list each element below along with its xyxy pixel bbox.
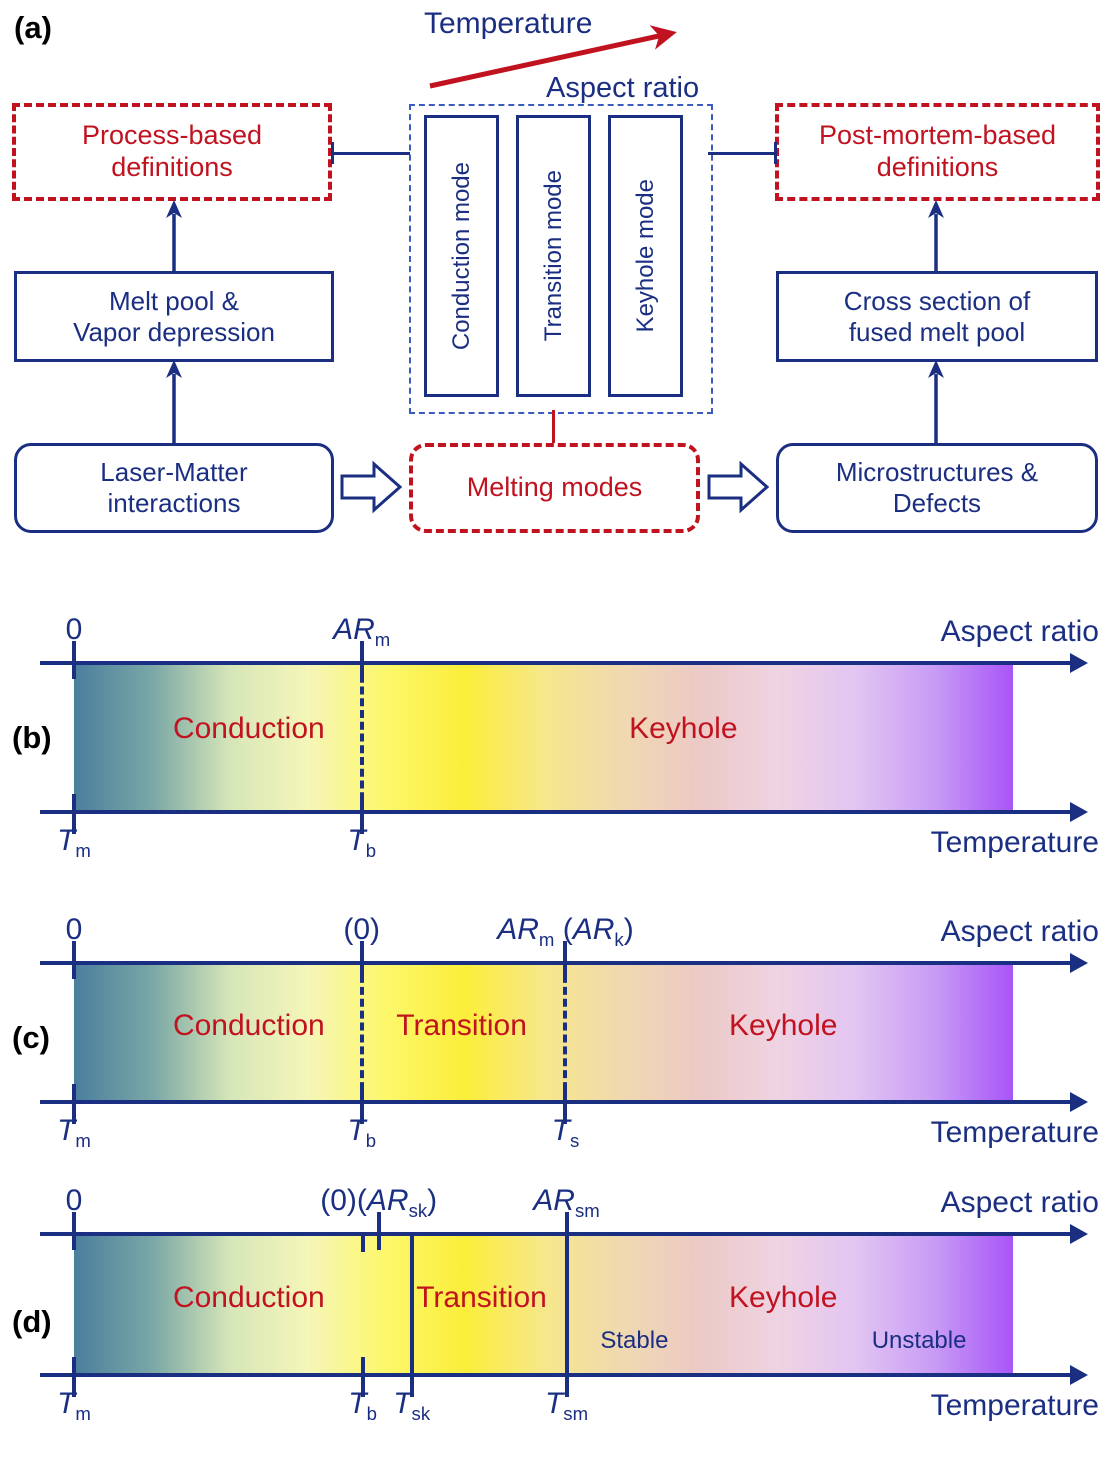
axis-tick	[360, 963, 364, 979]
process-based-definitions-box[interactable]: Process-based definitions	[12, 103, 332, 201]
region-label: Keyhole	[629, 712, 737, 746]
transition-mode-box[interactable]: Transition mode	[516, 115, 591, 397]
cross-section-box[interactable]: Cross section of fused melt pool	[776, 271, 1098, 362]
top-axis-arrowhead	[1070, 953, 1088, 973]
region-label: Transition	[396, 1009, 527, 1043]
post-mortem-line1: Post-mortem-based	[819, 120, 1056, 152]
axis-tick	[360, 1102, 364, 1124]
process-based-line2: definitions	[82, 152, 262, 184]
axis-tick	[565, 1234, 569, 1250]
bottom-axis	[40, 1100, 1070, 1104]
keyhole-mode-label: Keyhole mode	[632, 179, 660, 332]
region-divider	[565, 1234, 569, 1375]
axis-tick	[72, 941, 76, 963]
axis-tick	[72, 963, 76, 979]
axis-tick	[72, 1102, 76, 1124]
region-label: Transition	[416, 1281, 547, 1315]
axis-tick	[377, 1212, 381, 1234]
bottom-axis	[40, 1373, 1070, 1377]
melt-pool-line1: Melt pool &	[73, 286, 275, 317]
top-axis-arrowhead	[1070, 1224, 1088, 1244]
region-label: Conduction	[173, 712, 325, 746]
axis-tick	[72, 663, 76, 679]
panel-a-letter: (a)	[14, 10, 52, 46]
axis-tick	[72, 1084, 76, 1102]
top-axis	[40, 961, 1070, 965]
cross-section-line2: fused melt pool	[844, 317, 1030, 348]
region-divider	[360, 963, 364, 1102]
connector-process-to-modes	[332, 152, 410, 155]
top-axis-name: Aspect ratio	[941, 915, 1099, 949]
axis-tick	[361, 1357, 365, 1375]
arrow-micro-to-crosssection	[922, 358, 952, 448]
axis-tick	[410, 1375, 414, 1397]
axis-tick	[72, 1212, 76, 1234]
connector-modes-to-postmortem	[708, 152, 776, 155]
region-divider	[563, 963, 567, 1102]
process-based-line1: Process-based	[82, 120, 262, 152]
bottom-axis	[40, 810, 1070, 814]
panel-b-letter: (b)	[12, 720, 52, 756]
melting-modes-box[interactable]: Melting modes	[409, 443, 700, 533]
top-axis	[40, 661, 1070, 665]
axis-tick	[360, 1084, 364, 1102]
bottom-axis-arrowhead	[1070, 1092, 1088, 1112]
panel-d-letter: (d)	[12, 1304, 52, 1340]
laser-matter-box[interactable]: Laser-Matter interactions	[14, 443, 334, 533]
region-label: Keyhole	[729, 1009, 837, 1043]
arrow-laser-to-meltpool	[160, 358, 190, 448]
connector-process-endcap	[331, 142, 334, 164]
axis-tick	[360, 812, 364, 834]
microstructures-line1: Microstructures &	[836, 457, 1038, 488]
microstructures-line2: Defects	[836, 488, 1038, 519]
block-arrow-laser-to-melting	[340, 458, 402, 516]
bottom-axis-name: Temperature	[931, 1389, 1099, 1423]
arrow-meltpool-to-process	[160, 198, 190, 276]
top-axis-arrowhead	[1070, 653, 1088, 673]
cross-section-line1: Cross section of	[844, 286, 1030, 317]
axis-tick	[361, 1375, 365, 1397]
microstructures-defects-box[interactable]: Microstructures & Defects	[776, 443, 1098, 533]
axis-tick	[72, 1234, 76, 1250]
axis-tick	[360, 941, 364, 963]
axis-tick	[563, 1084, 567, 1102]
melt-pool-line2: Vapor depression	[73, 317, 275, 348]
sub-region-label: Stable	[600, 1327, 668, 1355]
top-axis-name: Aspect ratio	[941, 615, 1099, 649]
axis-tick	[72, 641, 76, 663]
axis-tick	[565, 1357, 569, 1375]
laser-matter-line1: Laser-Matter	[100, 457, 247, 488]
axis-tick	[563, 963, 567, 979]
axis-tick	[563, 1102, 567, 1124]
melt-pool-box[interactable]: Melt pool & Vapor depression	[14, 271, 334, 362]
keyhole-mode-box[interactable]: Keyhole mode	[608, 115, 683, 397]
laser-matter-line2: interactions	[100, 488, 247, 519]
chart-panel-b: (b) 0ARmTmTbConductionKeyholeAspect rati…	[0, 590, 1113, 880]
region-label: Keyhole	[729, 1281, 837, 1315]
transition-mode-label: Transition mode	[540, 170, 568, 341]
conduction-mode-label: Conduction mode	[448, 162, 476, 350]
conduction-mode-box[interactable]: Conduction mode	[424, 115, 499, 397]
axis-tick	[72, 812, 76, 834]
block-arrow-melting-to-micro	[707, 458, 769, 516]
axis-tick	[377, 1234, 381, 1250]
bottom-axis-name: Temperature	[931, 1116, 1099, 1150]
connector-modes-to-melting	[552, 410, 555, 443]
bottom-axis-arrowhead	[1070, 802, 1088, 822]
axis-tick	[72, 794, 76, 812]
axis-tick	[72, 1357, 76, 1375]
top-axis-name: Aspect ratio	[941, 1186, 1099, 1220]
bottom-axis-arrowhead	[1070, 1365, 1088, 1385]
top-axis	[40, 1232, 1070, 1236]
axis-tick	[563, 941, 567, 963]
region-divider	[410, 1234, 414, 1375]
arrow-crosssection-to-postmortem	[922, 198, 952, 276]
axis-tick	[360, 794, 364, 812]
sub-region-label: Unstable	[872, 1327, 967, 1355]
bottom-axis-name: Temperature	[931, 826, 1099, 860]
axis-tick	[361, 1234, 365, 1252]
axis-tick	[410, 1357, 414, 1375]
axis-tick	[72, 1375, 76, 1397]
axis-tick	[360, 641, 364, 663]
post-mortem-based-definitions-box[interactable]: Post-mortem-based definitions	[775, 103, 1100, 201]
axis-tick	[565, 1375, 569, 1397]
region-divider	[360, 663, 364, 812]
aspect-ratio-label-a: Aspect ratio	[546, 72, 699, 105]
post-mortem-line2: definitions	[819, 152, 1056, 184]
panel-c-letter: (c)	[12, 1020, 50, 1056]
axis-tick	[565, 1212, 569, 1234]
region-label: Conduction	[173, 1009, 325, 1043]
chart-panel-c: (c) 0(0)ARm (ARk)TmTbTsConductionTransit…	[0, 880, 1113, 1178]
chart-panel-d: (d) 0(0)(ARsk)ARsmTmTbTskTsmConductionTr…	[0, 1172, 1113, 1467]
connector-postmortem-endcap	[774, 142, 777, 164]
axis-tick	[360, 663, 364, 679]
melting-modes-label: Melting modes	[467, 472, 643, 504]
region-label: Conduction	[173, 1281, 325, 1315]
